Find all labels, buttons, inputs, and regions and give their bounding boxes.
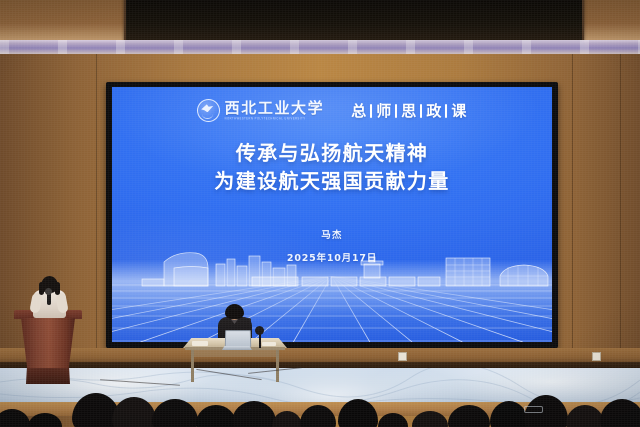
perspective-grid-floor	[112, 276, 552, 342]
series-char-5: 课	[450, 100, 467, 121]
series-label: 总 师 思 政 课	[350, 100, 467, 121]
wall-panel-seam	[572, 54, 573, 354]
table-leg	[191, 349, 194, 382]
wall-outlet[interactable]	[592, 352, 601, 361]
lectern-body	[21, 318, 75, 370]
paper-sheet	[192, 341, 208, 346]
slide-header: 西北工业大学 NORTHWESTERN POLYTECHNICAL UNIVER…	[112, 99, 552, 122]
handheld-microphone-icon	[47, 292, 51, 305]
wall-panel-seam	[620, 54, 621, 354]
university-name-cn: 西北工业大学	[225, 101, 325, 116]
university-name-block: 西北工业大学 NORTHWESTERN POLYTECHNICAL UNIVER…	[225, 101, 325, 121]
wall-outlet[interactable]	[398, 352, 407, 361]
wall-panel-seam	[96, 54, 97, 354]
slide-speaker-name: 马杰	[112, 227, 552, 241]
ceiling-dark-panel	[124, 0, 584, 44]
table-shadow	[193, 349, 277, 357]
laptop[interactable]	[222, 330, 252, 350]
presenter-hair	[225, 304, 244, 319]
lecture-hall-photo: 西北工业大学 NORTHWESTERN POLYTECHNICAL UNIVER…	[0, 0, 640, 427]
series-char-2: 师	[375, 100, 392, 121]
university-brand-lockup: 西北工业大学 NORTHWESTERN POLYTECHNICAL UNIVER…	[197, 99, 325, 122]
laptop-keyboard	[222, 346, 252, 350]
slide-title-line-2: 为建设航天强国贡献力量	[112, 167, 552, 195]
series-char-4: 政	[425, 100, 442, 121]
paper-sheet	[262, 342, 276, 346]
table-leg	[276, 349, 279, 382]
laptop-screen	[225, 330, 251, 347]
slide-main-title: 传承与弘扬航天精神 为建设航天强国贡献力量	[112, 139, 552, 196]
university-name-en: NORTHWESTERN POLYTECHNICAL UNIVERSITY	[225, 118, 325, 121]
ceiling-led-strip	[0, 40, 640, 54]
series-char-3: 思	[400, 100, 417, 121]
university-seal-icon	[197, 99, 220, 122]
series-separator	[370, 104, 372, 118]
series-char-1: 总	[350, 100, 367, 121]
projection-screen: 西北工业大学 NORTHWESTERN POLYTECHNICAL UNIVER…	[112, 87, 552, 342]
series-separator	[420, 104, 422, 118]
stage-front-apron	[0, 402, 640, 416]
lectern-base	[26, 368, 70, 384]
standing-host	[28, 276, 70, 318]
series-separator	[445, 104, 447, 118]
series-separator	[395, 104, 397, 118]
slide-title-line-1: 传承与弘扬航天精神	[112, 139, 552, 167]
lectern	[14, 310, 82, 384]
